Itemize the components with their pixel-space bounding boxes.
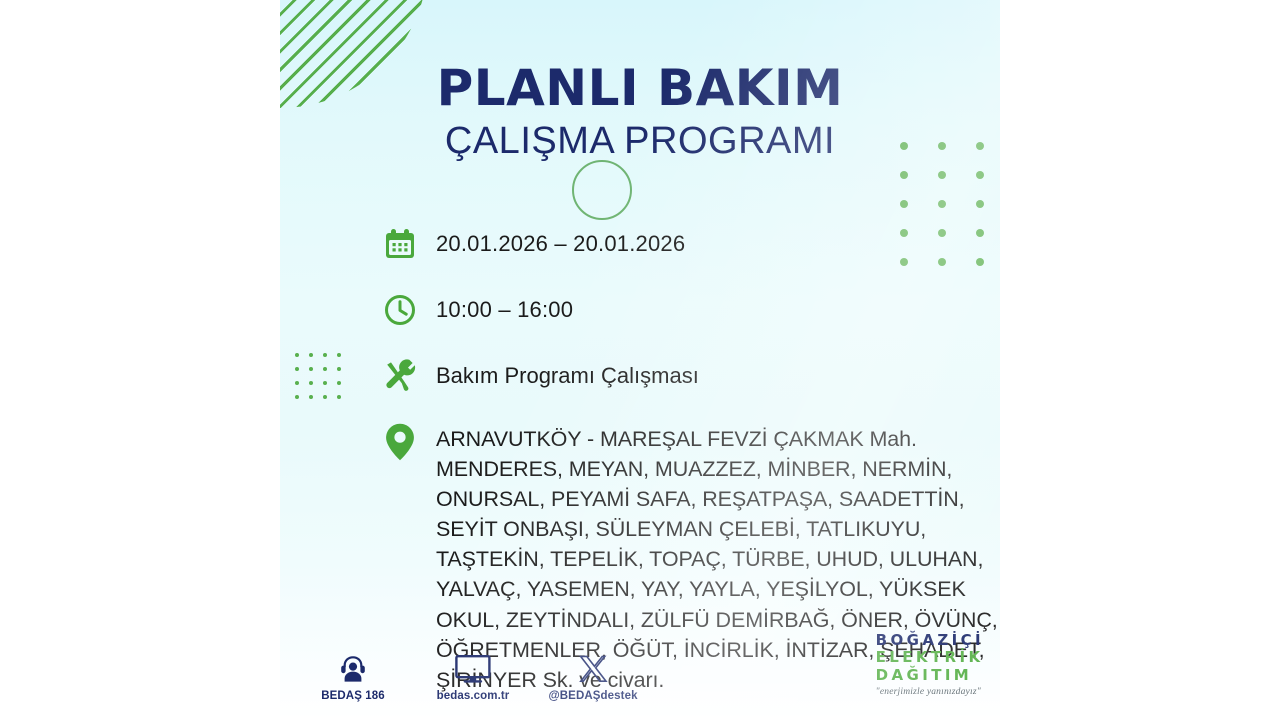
logo-line-elektrik: ELEKTRİK: [876, 649, 984, 667]
clock-icon: [378, 288, 422, 332]
footer-label-phone: BEDAŞ 186: [321, 690, 385, 702]
address-line: TAŞTEKİN, TEPELİK, TOPAÇ, TÜRBE, UHUD, U…: [436, 544, 998, 574]
x-twitter-icon: [578, 650, 608, 684]
poster-subtitle: ÇALIŞMA PROGRAMI: [280, 118, 1000, 164]
location-pin-icon: [378, 420, 422, 464]
address-line: MENDERES, MEYAN, MUAZZEZ, MİNBER, NERMİN…: [436, 454, 998, 484]
footer-label-social: @BEDAŞdestek: [548, 690, 637, 702]
footer-item-website[interactable]: bedas.com.tr: [430, 650, 516, 702]
footer-label-website: bedas.com.tr: [437, 690, 510, 702]
monitor-website-icon: [454, 650, 492, 684]
logo-line-bogazici: BOĞAZİÇİ: [876, 632, 984, 650]
footer-item-social[interactable]: @BEDAŞdestek: [550, 650, 636, 702]
logo-tagline: "enerjimizle yanınızdayız": [876, 687, 984, 698]
address-line: ARNAVUTKÖY - MAREŞAL FEVZİ ÇAKMAK Mah.: [436, 424, 998, 454]
poster-heading-group: PLANLI BAKIM ÇALIŞMA PROGRAMI: [280, 62, 1000, 164]
dot-grid-left-decoration: [290, 348, 346, 404]
date-range-text: 20.01.2026 – 20.01.2026: [436, 222, 685, 258]
screenshot-root: PLANLI BAKIM ÇALIŞMA PROGRAMI: [0, 0, 1280, 720]
planned-maintenance-poster: PLANLI BAKIM ÇALIŞMA PROGRAMI: [280, 0, 1000, 720]
info-row-date: 20.01.2026 – 20.01.2026: [378, 222, 978, 266]
info-row-time: 10:00 – 16:00: [378, 288, 978, 332]
info-row-work-type: Bakım Programı Çalışması: [378, 354, 978, 398]
address-line: SEYİT ONBAŞI, SÜLEYMAN ÇELEBİ, TATLIKUYU…: [436, 514, 998, 544]
logo-line-dagitim: DAĞITIM: [876, 667, 984, 685]
work-type-text: Bakım Programı Çalışması: [436, 354, 699, 390]
poster-title: PLANLI BAKIM: [280, 62, 1000, 114]
time-range-text: 10:00 – 16:00: [436, 288, 573, 324]
poster-info-block: 20.01.2026 – 20.01.2026 10:00 – 16:00: [378, 222, 978, 695]
calendar-icon: [378, 222, 422, 266]
tools-icon: [378, 354, 422, 398]
address-line: ONURSAL, PEYAMİ SAFA, REŞATPAŞA, SAADETT…: [436, 484, 998, 514]
circle-outline-decoration: [572, 160, 632, 220]
headset-support-icon: [338, 650, 368, 684]
address-line: YALVAÇ, YASEMEN, YAY, YAYLA, YEŞİLYOL, Y…: [436, 574, 998, 604]
footer-item-phone[interactable]: BEDAŞ 186: [310, 650, 396, 702]
footer-contact-strip: BEDAŞ 186 bedas.com.tr: [310, 650, 636, 702]
bedas-logo: BOĞAZİÇİ ELEKTRİK DAĞITIM "enerjimizle y…: [876, 632, 984, 698]
